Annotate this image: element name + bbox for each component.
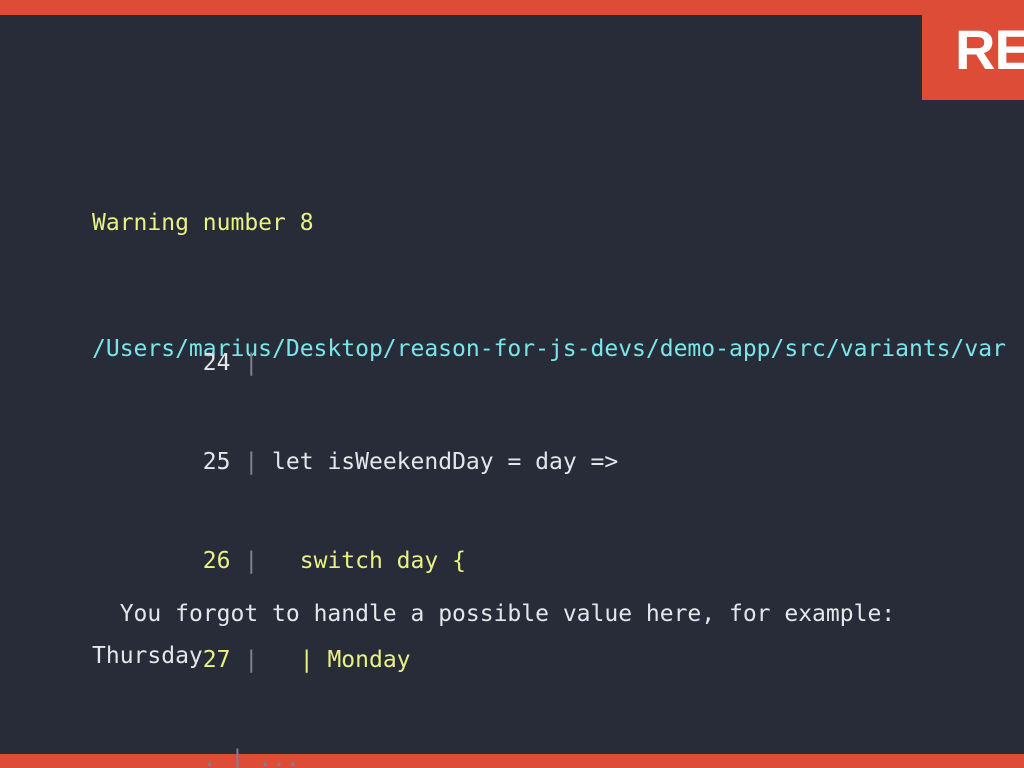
line-source: let isWeekendDay = day => bbox=[258, 449, 618, 475]
line-source: switch day { bbox=[258, 548, 466, 574]
line-number: 25 bbox=[203, 449, 231, 475]
line-pipe-icon: | bbox=[244, 548, 258, 574]
code-excerpt: 24 | 25 | let isWeekendDay = day => 26 |… bbox=[92, 243, 992, 768]
line-number: 26 bbox=[203, 548, 231, 574]
warning-explanation: You forgot to handle a possible value he… bbox=[92, 593, 922, 677]
top-accent-bar bbox=[0, 0, 1024, 15]
warning-content: Warning number 8 /Users/marius/Desktop/r… bbox=[0, 15, 1024, 754]
code-line: 26 | switch day { bbox=[92, 498, 992, 540]
slide-canvas: RE Warning number 8 /Users/marius/Deskto… bbox=[0, 0, 1024, 768]
line-pipe-icon: | bbox=[231, 746, 245, 768]
code-line-elision: . | ... bbox=[92, 696, 992, 738]
code-line: 25 | let isWeekendDay = day => bbox=[92, 399, 992, 441]
line-number: 24 bbox=[203, 350, 231, 376]
line-pipe-icon: | bbox=[244, 449, 258, 475]
code-line: 24 | bbox=[92, 300, 992, 342]
line-pipe-icon: | bbox=[244, 350, 258, 376]
line-source: ... bbox=[244, 746, 299, 768]
warning-title: Warning number 8 bbox=[92, 202, 1024, 244]
line-number: . bbox=[203, 746, 217, 768]
